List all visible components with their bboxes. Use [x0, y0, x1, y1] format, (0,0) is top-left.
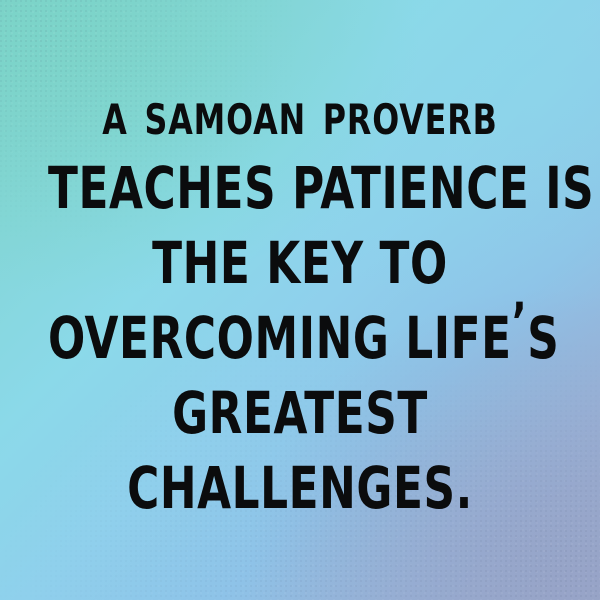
quote-line-4: overcoming life’s [48, 309, 552, 367]
quote-line-4-tail: s [527, 304, 559, 372]
quote-card: A Samoan proverb teaches patience is the… [0, 0, 600, 600]
quote-line-2: teaches patience is [48, 159, 552, 217]
quote-text-block: A Samoan proverb teaches patience is the… [0, 84, 600, 517]
quote-line-5: greatest [48, 384, 552, 442]
quote-line-1: A Samoan proverb [48, 84, 552, 144]
quote-line-3: the key to [48, 234, 552, 292]
quote-line-6: challenges. [48, 459, 552, 517]
apostrophe-glyph: ’ [512, 293, 528, 353]
quote-line-4-head: overcoming life [48, 304, 512, 372]
